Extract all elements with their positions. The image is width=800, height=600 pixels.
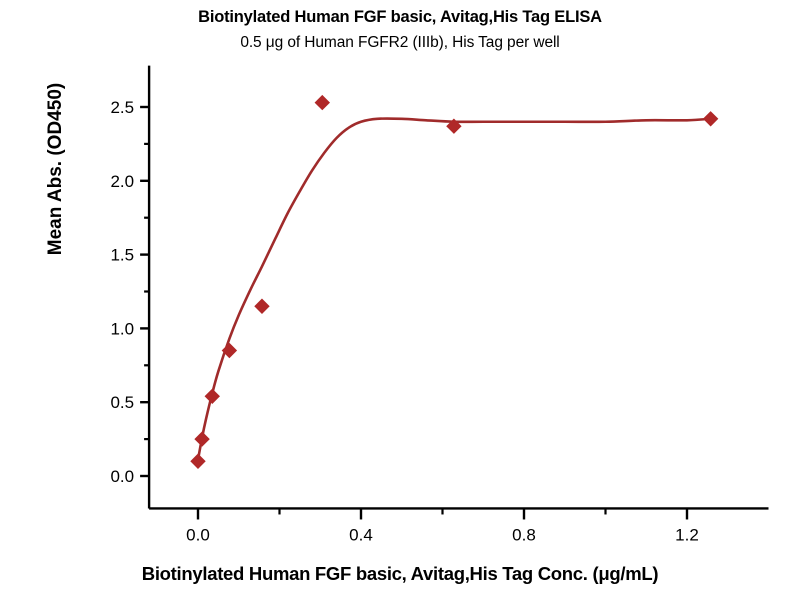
y-tick-label: 2.5 <box>110 98 134 117</box>
fit-curve <box>198 119 711 460</box>
chart-figure: Biotinylated Human FGF basic, Avitag,His… <box>0 0 800 600</box>
data-markers <box>191 96 718 469</box>
x-axis-ticks: 0.00.40.81.2 <box>186 508 699 544</box>
x-tick-label: 0.8 <box>512 525 536 544</box>
x-tick-label: 1.2 <box>675 525 699 544</box>
y-tick-label: 0.5 <box>110 393 134 412</box>
y-tick-label: 1.5 <box>110 246 134 265</box>
axes <box>149 66 768 509</box>
x-tick-label: 0.4 <box>349 525 373 544</box>
data-point-marker <box>315 96 329 110</box>
fit-curve-path <box>198 119 711 460</box>
y-tick-label: 0.0 <box>110 467 134 486</box>
y-axis-ticks: 0.00.51.01.52.02.5 <box>110 98 149 486</box>
data-point-marker <box>704 112 718 126</box>
plot-area: 0.00.51.01.52.02.5 0.00.40.81.2 <box>0 0 800 600</box>
data-point-marker <box>255 299 269 313</box>
data-point-marker <box>191 454 205 468</box>
x-tick-label: 0.0 <box>186 525 210 544</box>
data-point-marker <box>205 389 219 403</box>
data-point-marker <box>195 432 209 446</box>
y-tick-label: 2.0 <box>110 172 134 191</box>
y-tick-label: 1.0 <box>110 319 134 338</box>
